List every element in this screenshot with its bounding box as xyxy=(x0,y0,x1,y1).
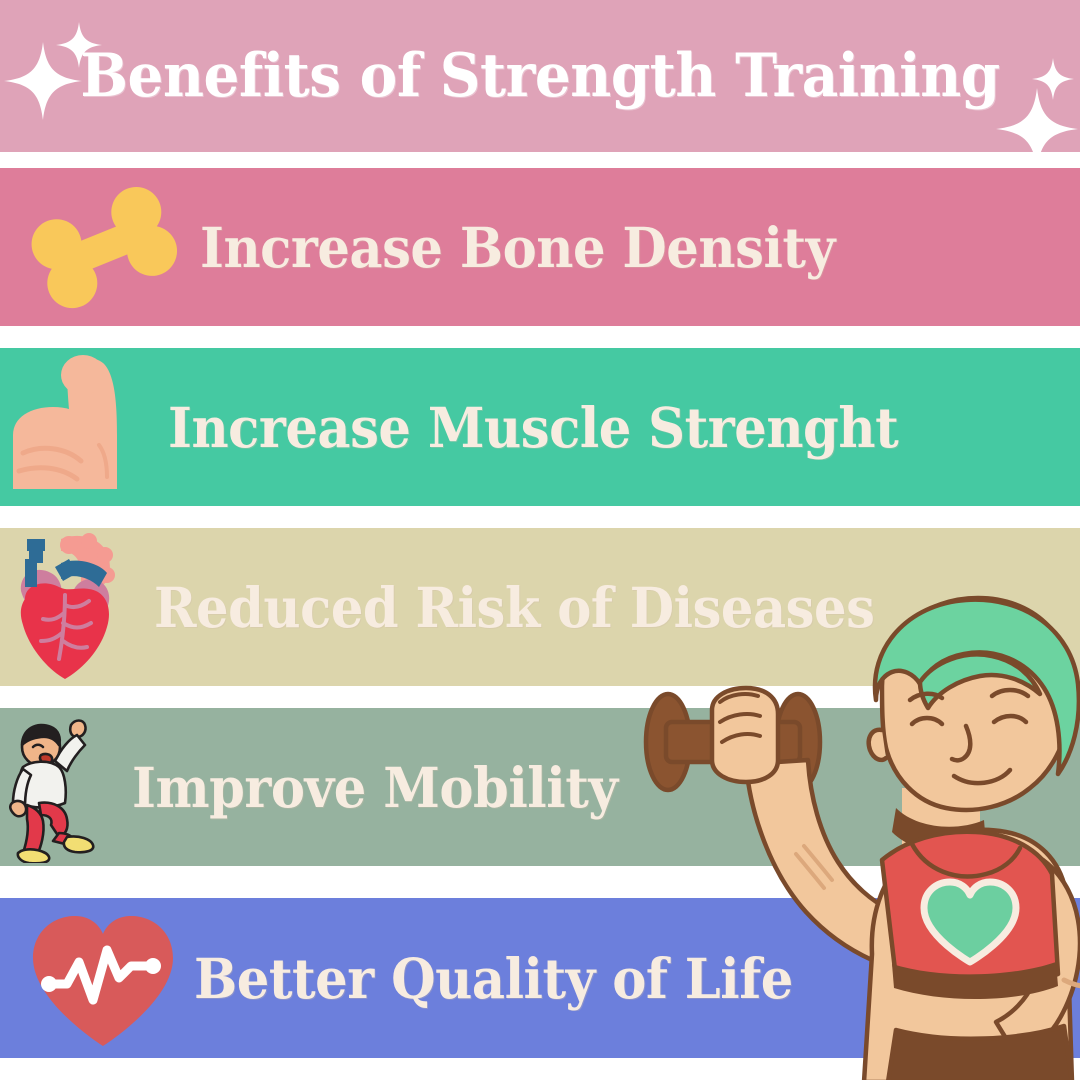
benefit-label: Increase Bone Density xyxy=(200,215,835,280)
sparkle-top-right-large-icon xyxy=(996,88,1078,170)
benefit-row-better-quality-of-life: Better Quality of Life xyxy=(0,898,1080,1058)
infographic-poster: Benefits of Strength Training Increase B… xyxy=(0,0,1080,1080)
benefit-label: Increase Muscle Strenght xyxy=(168,395,898,460)
benefit-row-increase-bone-density: Increase Bone Density xyxy=(0,168,1080,326)
benefit-label: Better Quality of Life xyxy=(194,946,793,1011)
page-title: Benefits of Strength Training xyxy=(80,41,999,111)
benefit-row-reduced-risk-of-diseases: Reduced Risk of Diseases xyxy=(0,528,1080,686)
sparkle-top-left-large-icon xyxy=(4,42,82,120)
benefit-label: Improve Mobility xyxy=(132,755,618,820)
title-banner: Benefits of Strength Training xyxy=(0,0,1080,152)
benefit-label: Reduced Risk of Diseases xyxy=(154,575,874,640)
person-dancing-icon xyxy=(6,708,124,866)
benefit-row-increase-muscle-strength: Increase Muscle Strenght xyxy=(0,348,1080,506)
flexed-biceps-icon xyxy=(8,348,160,506)
bone-icon xyxy=(8,172,198,322)
heart-pulse-icon xyxy=(18,899,188,1057)
anatomical-heart-icon xyxy=(4,528,142,686)
benefit-row-improve-mobility: Improve Mobility xyxy=(0,708,1080,866)
sparkle-top-right-small-icon xyxy=(1032,58,1074,100)
